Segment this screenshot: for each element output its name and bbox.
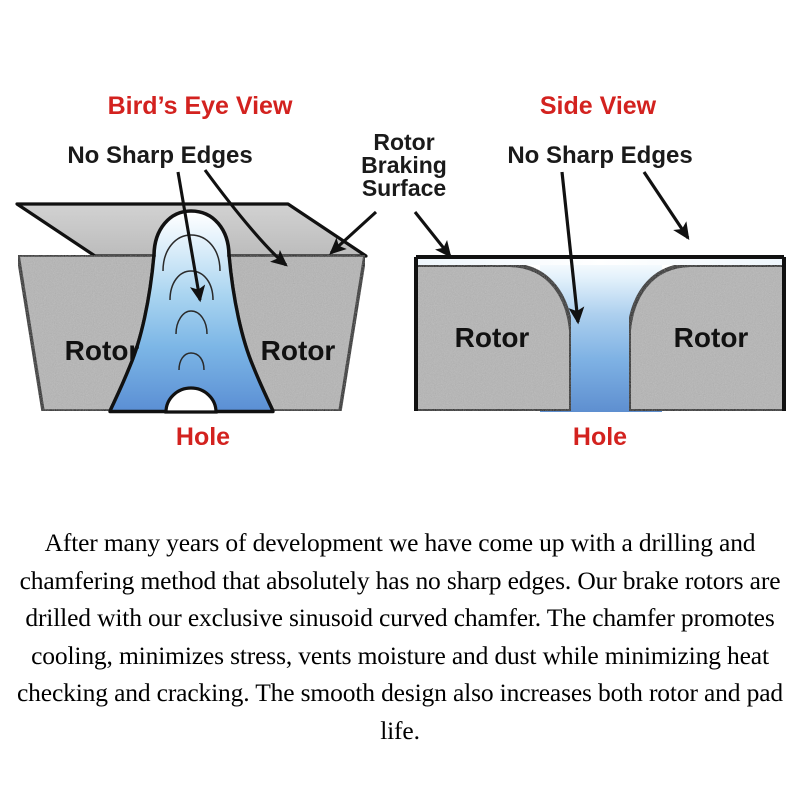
rotor-chamfer-illustration: Bird’s Eye View No Sharp Edges Rotor Bra… [0,0,800,480]
diagram-area: Bird’s Eye View No Sharp Edges Rotor Bra… [0,0,800,480]
right-diagram-hole-label: Hole [573,423,627,451]
left-diagram-hole-label: Hole [176,423,230,451]
arrow-right-no-sharp-edges-short [644,172,688,238]
left-diagram-rotor-label-left: Rotor [65,335,140,366]
braking-surface-label-line3: Surface [362,175,446,201]
left-diagram-group: Bird’s Eye View No Sharp Edges Rotor Bra… [17,92,450,451]
caption-paragraph: After many years of development we have … [0,524,800,749]
right-diagram-title: Side View [540,92,657,120]
left-diagram-rotor-label-right: Rotor [261,335,336,366]
right-diagram-group: Side View No Sharp Edges Rotor Rotor Hol… [415,92,785,451]
right-diagram-rotor-label-right: Rotor [674,322,749,353]
right-diagram-rotor-label-left: Rotor [455,322,530,353]
arrow-braking-surface-right [415,212,450,256]
right-no-sharp-edges-label: No Sharp Edges [507,142,692,169]
left-no-sharp-edges-label: No Sharp Edges [67,142,252,169]
left-diagram-title: Bird’s Eye View [108,92,293,120]
page-root: Bird’s Eye View No Sharp Edges Rotor Bra… [0,0,800,800]
